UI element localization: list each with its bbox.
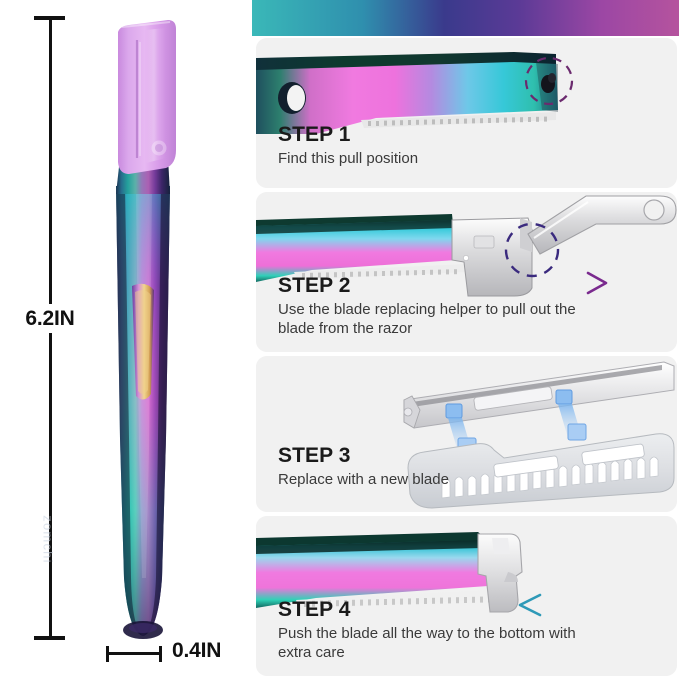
dimension-cap-bottom: [34, 636, 65, 640]
width-dimension-cap-right: [159, 646, 162, 662]
product-dimension-panel: 6.2IN: [0, 0, 250, 679]
width-dimension-line: [106, 646, 162, 662]
razor-product-image: [96, 18, 190, 640]
razor-body-art: [256, 52, 558, 134]
step-4-description: Push the blade all the way to the bottom…: [278, 624, 608, 664]
banner-gradient-background: [252, 0, 679, 36]
razor-body-art: [256, 214, 466, 282]
step-3-description: Replace with a new blade: [278, 470, 449, 490]
width-dimension-label: 0.4IN: [172, 640, 221, 661]
product-infographic: 6.2IN: [0, 0, 679, 679]
step-card-2: STEP 2 Use the blade replacing helper to…: [256, 192, 677, 352]
height-dimension-label: 6.2IN: [8, 304, 92, 333]
razor-cap: [118, 20, 176, 174]
step-3-title: STEP 3: [278, 444, 449, 468]
step-card-3: STEP 3 Replace with a new blade: [256, 356, 677, 512]
step-1-title: STEP 1: [278, 123, 418, 147]
header-banner: EASY TO REPLACE BLADES: [252, 0, 679, 36]
arrow-left-icon: [514, 592, 610, 618]
width-dimension-cap-left: [106, 646, 109, 662]
step-card-1: STEP 1 Find this pull position: [256, 38, 677, 188]
step-3-text-block: STEP 3 Replace with a new blade: [278, 444, 449, 489]
step-2-description: Use the blade replacing helper to pull o…: [278, 300, 608, 340]
step-1-description: Find this pull position: [278, 149, 418, 169]
width-dimension-stem: [106, 652, 162, 655]
step-1-text-block: STEP 1 Find this pull position: [278, 123, 418, 168]
razor-tip: [123, 621, 163, 639]
step-card-4: STEP 4 Push the blade all the way to the…: [256, 516, 677, 676]
dimension-cap-top: [34, 16, 65, 20]
instruction-steps-panel: EASY TO REPLACE BLADES: [250, 0, 679, 679]
arrow-right-icon: [518, 270, 610, 296]
razor-handle: [116, 186, 170, 636]
